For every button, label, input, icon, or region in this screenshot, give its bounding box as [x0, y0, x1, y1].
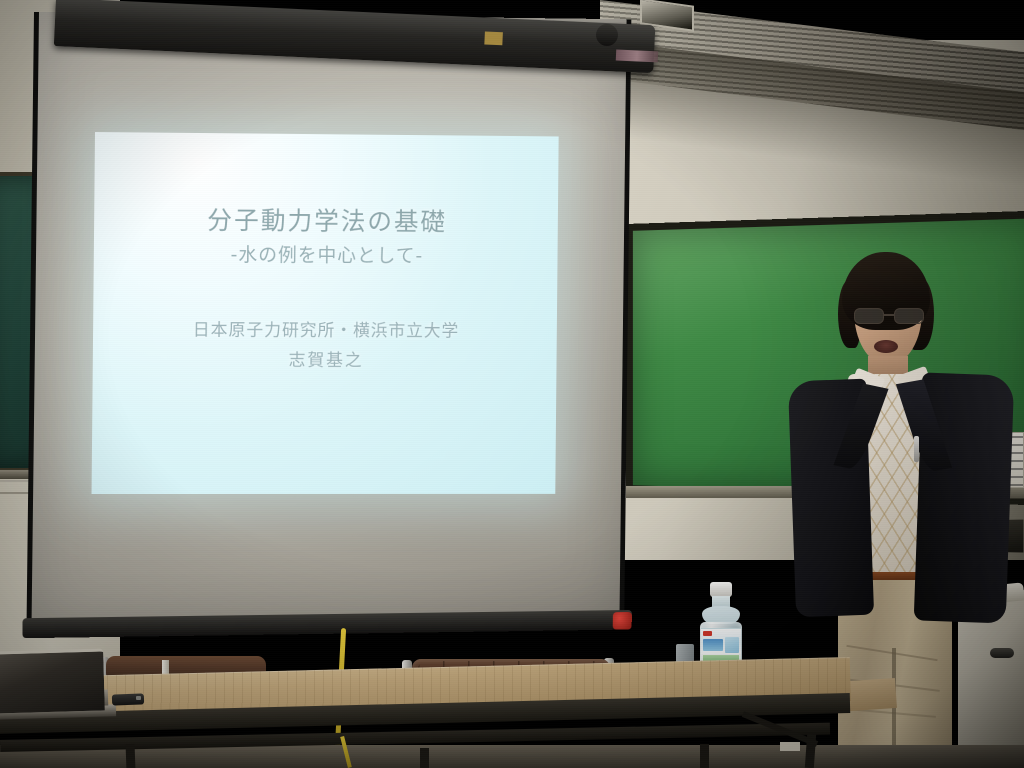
screen-endcap-icon: [613, 612, 632, 630]
label-logo-mark: [703, 631, 712, 636]
pen-icon: [914, 436, 919, 462]
table-leg: [420, 748, 429, 768]
slide-title: 分子動力学法の基礎: [207, 207, 447, 237]
table-leg: [126, 744, 136, 768]
remote-indicator-icon: [136, 696, 141, 700]
glasses-lens-left: [854, 308, 884, 324]
laptop-lid: [0, 648, 105, 713]
housing-brand-strip: [616, 49, 658, 62]
glasses-bridge: [884, 314, 894, 316]
slide-affiliation: 日本原子力研究所・横浜市立大学: [193, 318, 460, 344]
bottle-cap: [710, 582, 732, 597]
projected-slide: 分子動力学法の基礎 -水の例を中心として- 日本原子力研究所・横浜市立大学 志賀…: [92, 132, 559, 494]
label-blue-block: [703, 639, 723, 651]
mouth: [874, 340, 898, 353]
slide-author: 志賀基之: [289, 346, 364, 371]
housing-sticker: [484, 31, 503, 45]
lecture-room-scene: AudioOut 分子動力学法の基礎 -水の例を中心として- 日本原子力研究所・…: [0, 0, 1024, 768]
bottle-label: [701, 628, 741, 664]
glasses-lens-right: [894, 308, 924, 324]
table-label-tag: [780, 742, 800, 751]
slide-subtitle: -水の例を中心として-: [231, 240, 424, 268]
glasses-icon: [852, 308, 926, 324]
label-illustration: [725, 637, 739, 653]
table-leg: [700, 744, 709, 768]
